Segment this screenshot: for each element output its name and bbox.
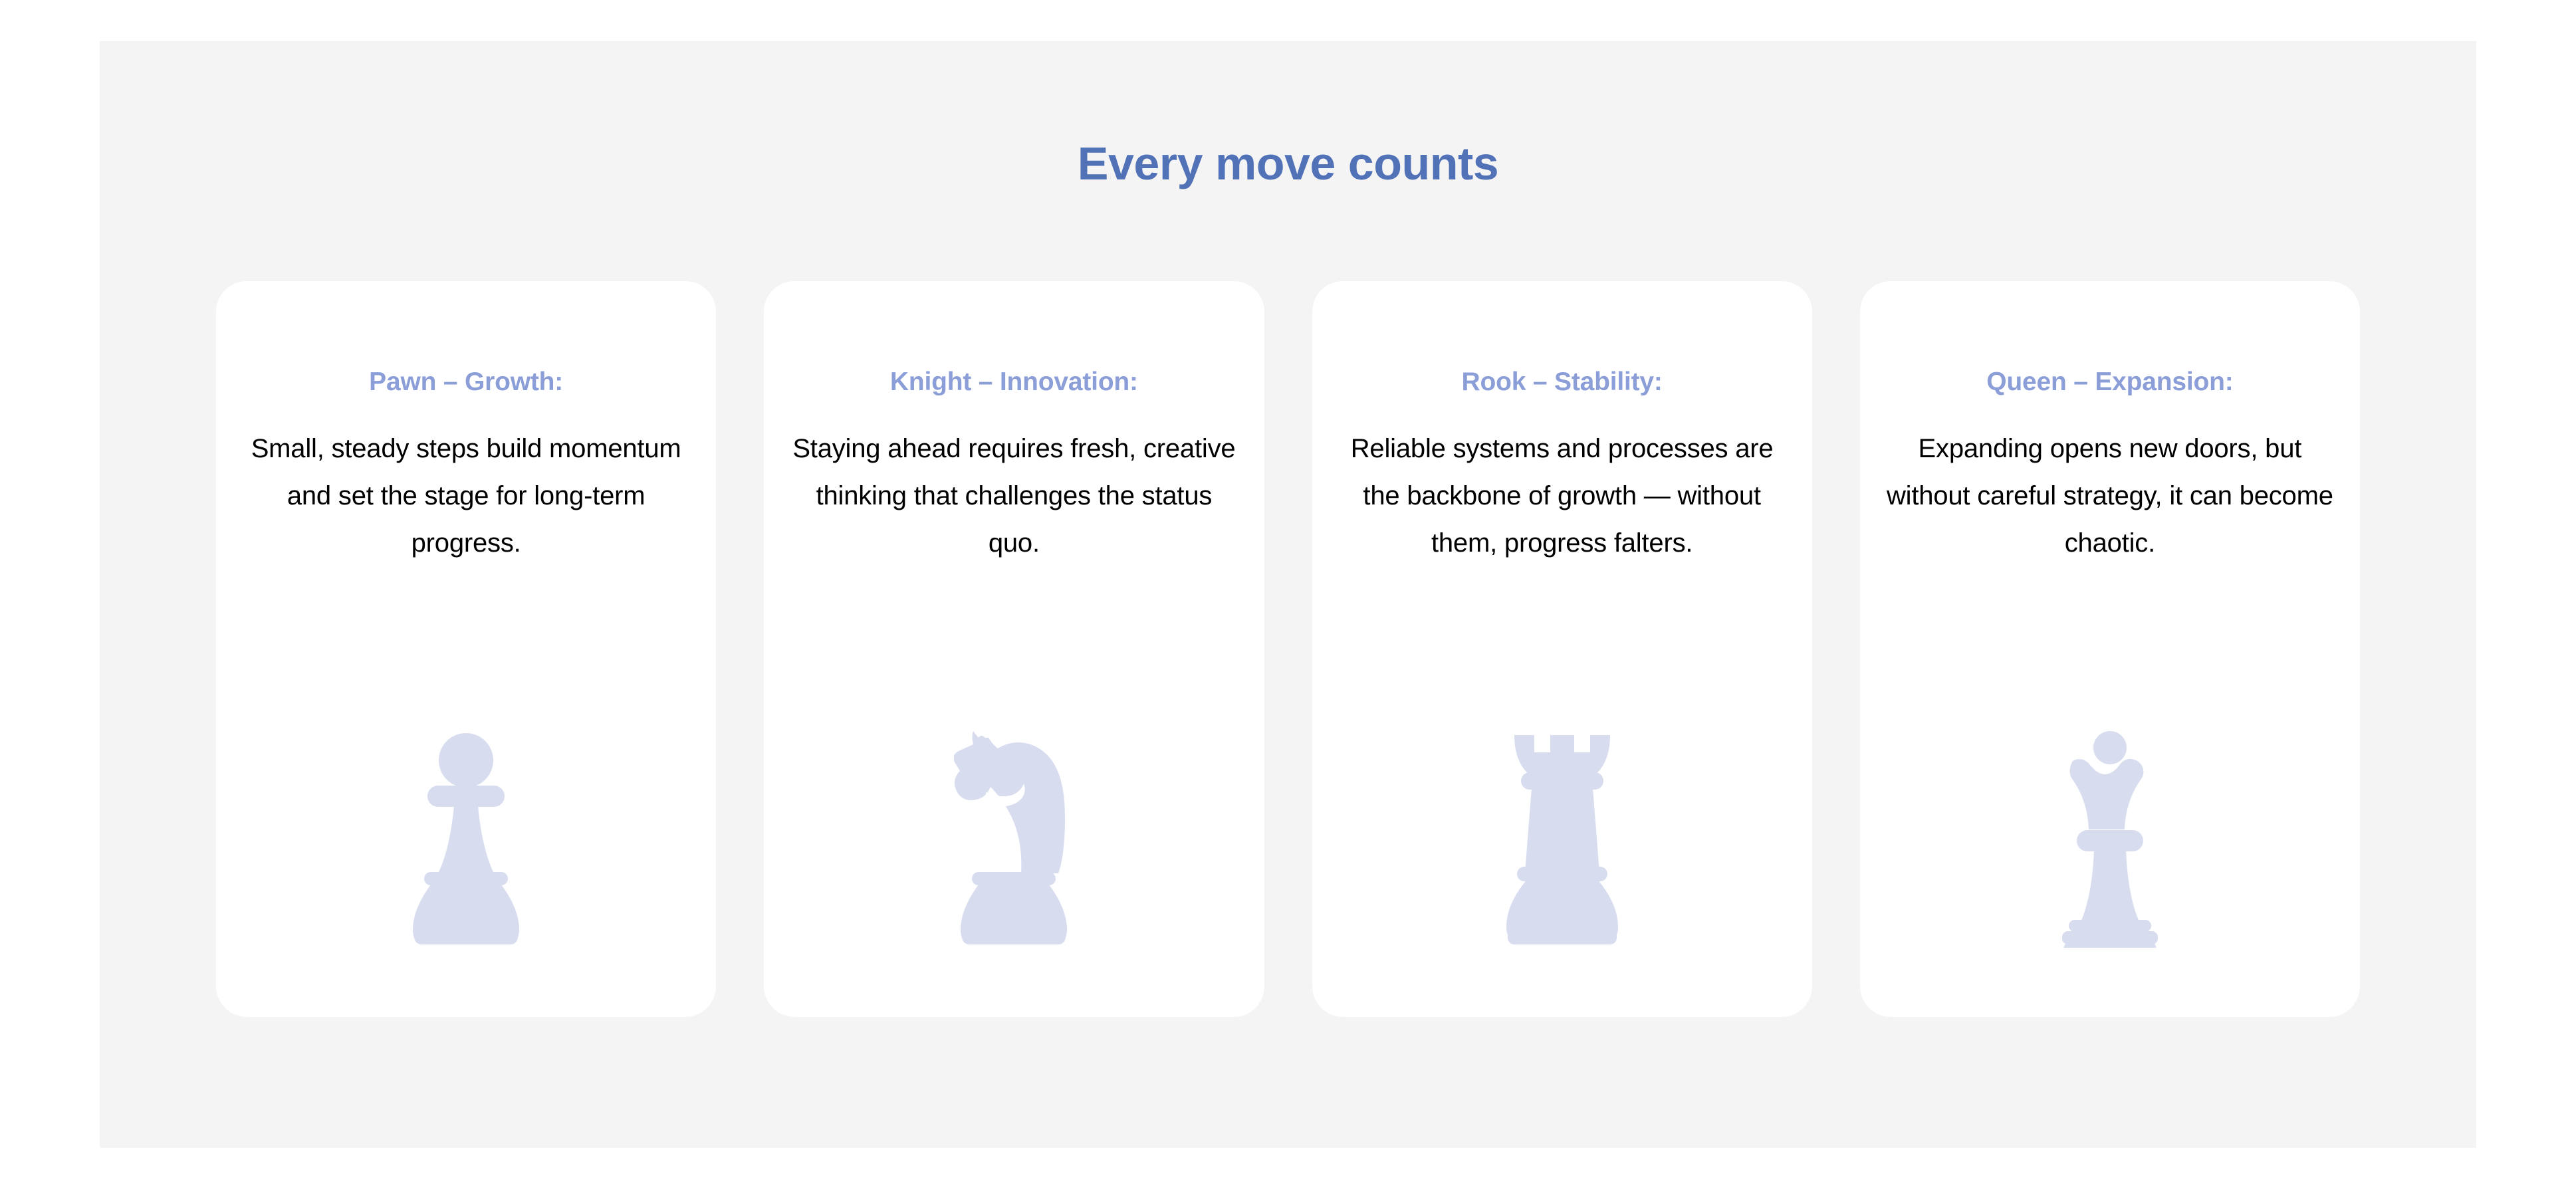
card-heading: Pawn – Growth: xyxy=(369,368,563,397)
page-title: Every move counts xyxy=(100,140,2476,189)
chess-pawn-icon xyxy=(236,728,696,948)
chess-knight-icon xyxy=(784,728,1244,948)
card-grid: Pawn – Growth: Small, steady steps build… xyxy=(216,281,2360,1017)
page-root: Every move counts Pawn – Growth: Small, … xyxy=(0,0,2576,1191)
card-body-text: Expanding opens new doors, but without c… xyxy=(1884,425,2336,567)
card-heading: Rook – Stability: xyxy=(1462,368,1663,397)
card-rook[interactable]: Rook – Stability: Reliable systems and p… xyxy=(1312,281,1812,1017)
card-queen[interactable]: Queen – Expansion: Expanding opens new d… xyxy=(1860,281,2360,1017)
card-heading: Knight – Innovation: xyxy=(890,368,1138,397)
card-heading: Queen – Expansion: xyxy=(1986,368,2233,397)
card-body-text: Reliable systems and processes are the b… xyxy=(1336,425,1788,567)
card-body-text: Staying ahead requires fresh, creative t… xyxy=(788,425,1240,567)
feature-section: Every move counts Pawn – Growth: Small, … xyxy=(100,41,2476,1148)
chess-rook-icon xyxy=(1332,728,1792,948)
card-knight[interactable]: Knight – Innovation: Staying ahead requi… xyxy=(764,281,1264,1017)
card-pawn[interactable]: Pawn – Growth: Small, steady steps build… xyxy=(216,281,716,1017)
chess-queen-icon xyxy=(1880,728,2340,948)
card-body-text: Small, steady steps build momentum and s… xyxy=(240,425,692,567)
